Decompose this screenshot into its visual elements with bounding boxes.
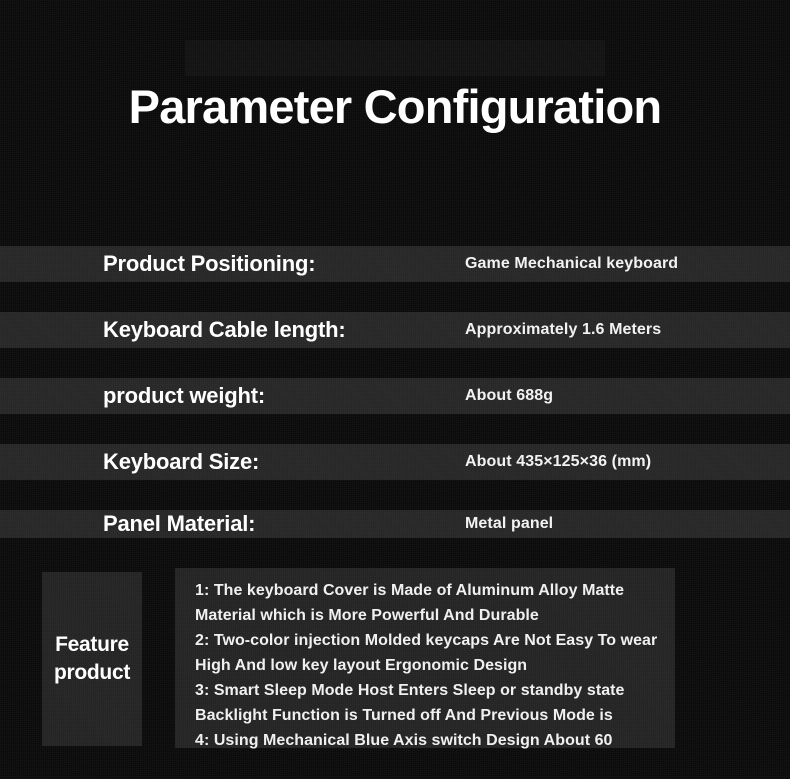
- spec-value: Metal panel: [465, 515, 553, 533]
- parameter-configuration-page: Parameter Configuration Product Position…: [0, 0, 790, 779]
- feature-product-text-box: 1: The keyboard Cover is Made of Aluminu…: [175, 568, 675, 748]
- table-row: Keyboard Cable length: Approximately 1.6…: [0, 312, 790, 348]
- feature-line: 4: Using Mechanical Blue Axis switch Des…: [195, 728, 675, 753]
- table-row: product weight: About 688g: [0, 378, 790, 414]
- header-backdrop-plate: [185, 40, 605, 76]
- feature-line: 3: Smart Sleep Mode Host Enters Sleep or…: [195, 678, 675, 703]
- spec-value: Approximately 1.6 Meters: [465, 321, 661, 339]
- spec-value: About 435×125×36 (mm): [465, 453, 651, 471]
- feature-line: 2: Two-color injection Molded keycaps Ar…: [195, 628, 675, 653]
- spec-value: About 688g: [465, 387, 553, 405]
- page-title: Parameter Configuration: [0, 78, 790, 136]
- feature-line: High And low key layout Ergonomic Design: [195, 653, 675, 678]
- spec-value: Game Mechanical keyboard: [465, 255, 678, 273]
- feature-product-label-box: Feature product: [42, 572, 142, 746]
- feature-product-section: Feature product 1: The keyboard Cover is…: [0, 568, 790, 750]
- feature-line: Backlight Function is Turned off And Pre…: [195, 703, 675, 728]
- feature-line: 1: The keyboard Cover is Made of Aluminu…: [195, 578, 675, 603]
- spec-label: Keyboard Cable length:: [103, 317, 346, 343]
- feature-label-line: product: [54, 659, 130, 687]
- feature-label-line: Feature: [55, 631, 129, 659]
- specification-table: Product Positioning: Game Mechanical key…: [0, 246, 790, 538]
- spec-label: Product Positioning:: [103, 251, 315, 277]
- table-row: Keyboard Size: About 435×125×36 (mm): [0, 444, 790, 480]
- table-row: Panel Material: Metal panel: [0, 510, 790, 538]
- spec-label: product weight:: [103, 383, 265, 409]
- spec-label: Keyboard Size:: [103, 449, 259, 475]
- feature-line: Material which is More Powerful And Dura…: [195, 603, 675, 628]
- table-row: Product Positioning: Game Mechanical key…: [0, 246, 790, 282]
- spec-label: Panel Material:: [103, 511, 255, 537]
